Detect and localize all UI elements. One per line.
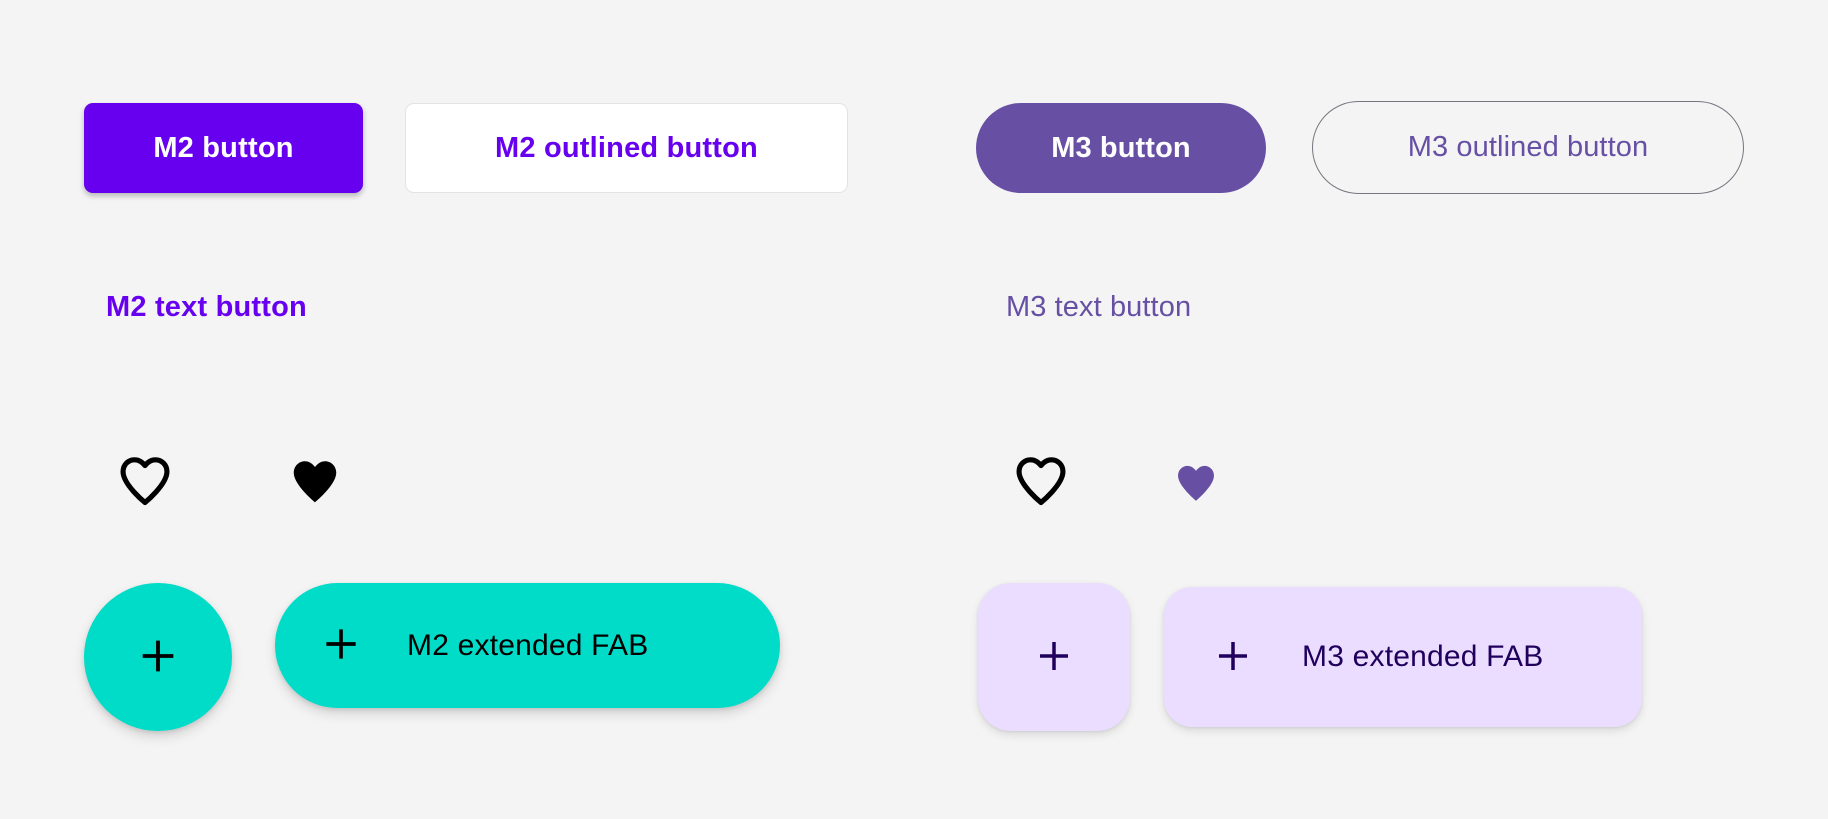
plus-icon — [319, 622, 363, 669]
m2-filled-button-label: M2 button — [153, 132, 293, 165]
m3-extended-fab-button[interactable]: M3 extended FAB — [1164, 587, 1642, 727]
m3-outlined-button[interactable]: M3 outlined button — [1312, 101, 1744, 194]
m2-heart-filled-button[interactable] — [289, 458, 341, 506]
m2-outlined-button-label: M2 outlined button — [495, 132, 758, 165]
comparison-stage: M2 button M2 outlined button M2 text but… — [0, 0, 1828, 819]
heart-outline-icon — [1013, 495, 1069, 510]
m2-heart-outline-button[interactable] — [117, 455, 173, 507]
m2-outlined-button[interactable]: M2 outlined button — [405, 103, 848, 193]
m2-filled-button[interactable]: M2 button — [84, 103, 363, 193]
m3-heart-filled-button[interactable] — [1174, 463, 1218, 504]
m2-fab-button[interactable] — [84, 583, 232, 731]
plus-icon — [1212, 635, 1254, 680]
heart-filled-icon — [289, 494, 341, 509]
m3-extended-fab-label: M3 extended FAB — [1302, 640, 1543, 674]
m3-filled-button-label: M3 button — [1051, 132, 1190, 165]
m2-extended-fab-button[interactable]: M2 extended FAB — [275, 583, 780, 708]
m2-extended-fab-label: M2 extended FAB — [407, 629, 648, 663]
m3-outlined-button-label: M3 outlined button — [1408, 131, 1648, 164]
m3-text-button[interactable]: M3 text button — [1006, 291, 1191, 324]
plus-icon — [135, 633, 181, 682]
heart-outline-icon — [117, 495, 173, 510]
plus-icon — [1033, 635, 1075, 680]
heart-filled-icon — [1174, 492, 1218, 507]
m2-text-button[interactable]: M2 text button — [106, 291, 307, 324]
m3-text-button-label: M3 text button — [1006, 291, 1191, 323]
m3-fab-button[interactable] — [978, 583, 1130, 731]
m2-text-button-label: M2 text button — [106, 291, 307, 323]
m3-heart-outline-button[interactable] — [1013, 455, 1069, 507]
m3-filled-button[interactable]: M3 button — [976, 103, 1266, 193]
